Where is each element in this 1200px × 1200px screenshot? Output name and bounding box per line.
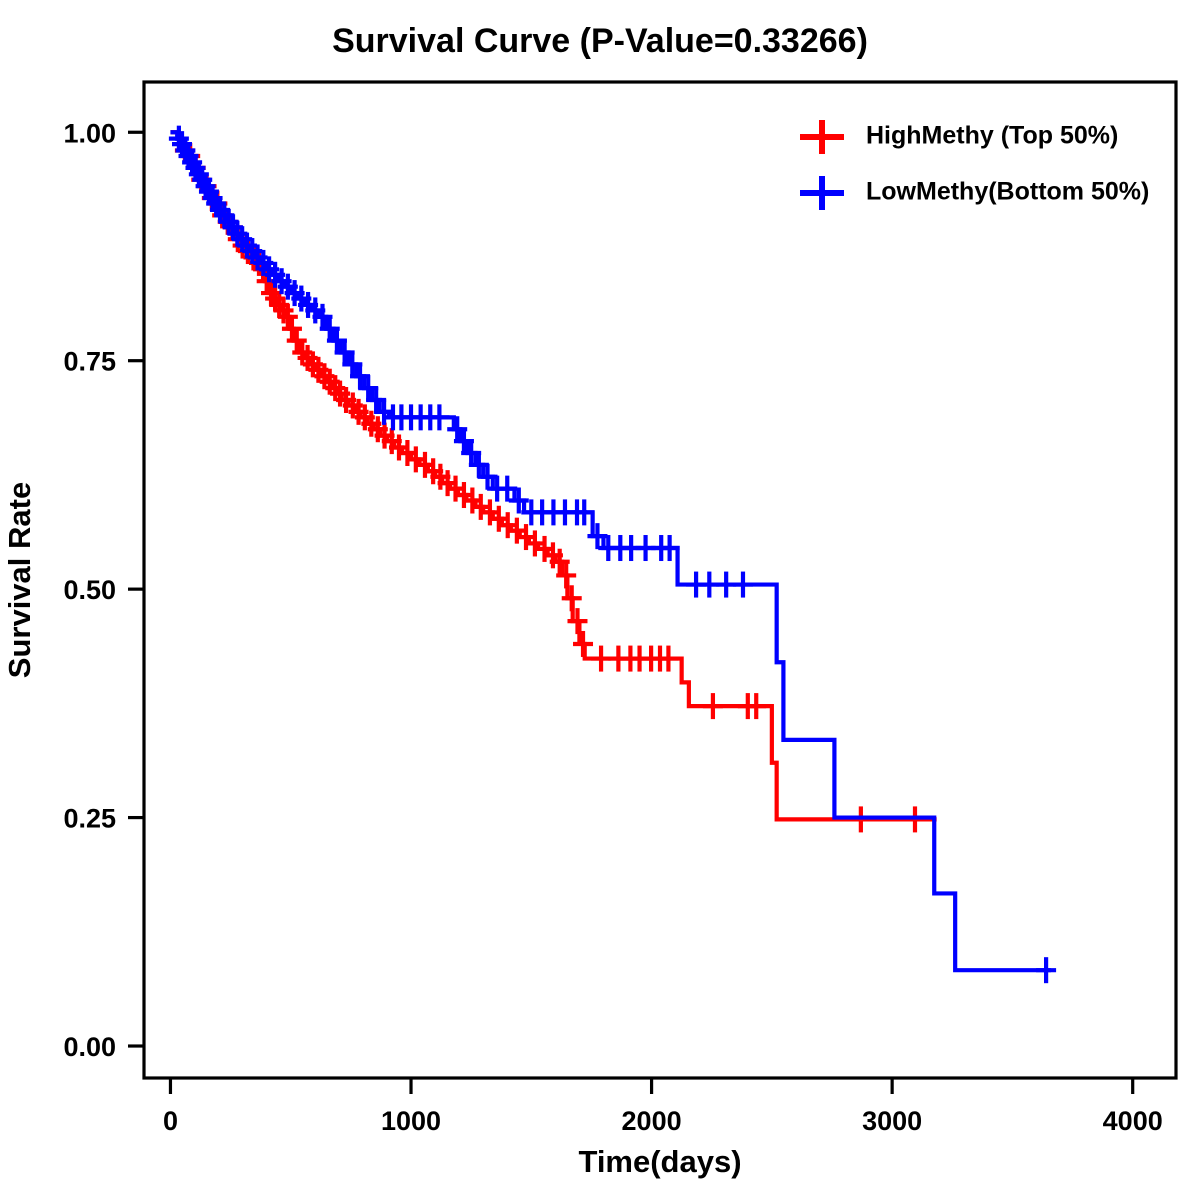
legend-item[interactable]: HighMethy (Top 50%) <box>800 120 1118 154</box>
plot-frame <box>144 82 1176 1078</box>
survival-curve-figure: Survival Curve (P-Value=0.33266) Time(da… <box>0 0 1200 1200</box>
km-step-line <box>170 132 1050 970</box>
survival-curve-plot: Survival Curve (P-Value=0.33266) Time(da… <box>0 0 1200 1200</box>
legend-item[interactable]: LowMethy(Bottom 50%) <box>800 176 1149 210</box>
y-tick-label: 0.25 <box>63 804 116 834</box>
series-layer <box>169 126 1056 984</box>
legend-label: HighMethy (Top 50%) <box>866 122 1118 150</box>
y-axis-label: Survival Rate <box>2 482 37 678</box>
y-tick-label: 0.50 <box>63 575 116 605</box>
censor-marks <box>169 126 1056 984</box>
x-tick-label: 1000 <box>381 1106 441 1136</box>
km-series <box>170 132 936 832</box>
x-axis-ticks: 01000200030004000 <box>163 1078 1163 1136</box>
x-tick-label: 4000 <box>1103 1106 1163 1136</box>
x-axis-label: Time(days) <box>578 1144 741 1179</box>
km-step-line <box>170 132 936 819</box>
x-tick-label: 3000 <box>862 1106 922 1136</box>
censor-marks <box>175 138 925 833</box>
y-axis-ticks: 0.000.250.500.751.00 <box>63 118 144 1062</box>
y-tick-label: 0.75 <box>63 347 116 377</box>
x-tick-label: 2000 <box>622 1106 682 1136</box>
x-tick-label: 0 <box>163 1106 178 1136</box>
chart-legend: HighMethy (Top 50%)LowMethy(Bottom 50%) <box>800 120 1149 210</box>
km-series <box>169 126 1056 984</box>
legend-label: LowMethy(Bottom 50%) <box>866 178 1149 206</box>
chart-title: Survival Curve (P-Value=0.33266) <box>332 22 868 60</box>
y-tick-label: 0.00 <box>63 1032 116 1062</box>
y-tick-label: 1.00 <box>63 118 116 148</box>
